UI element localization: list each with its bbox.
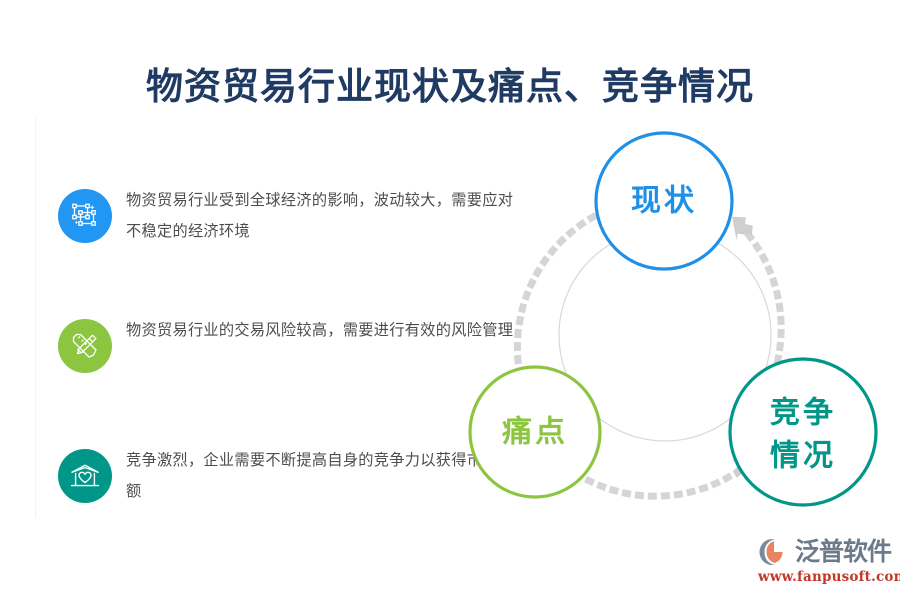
page-title: 物资贸易行业现状及痛点、竞争情况 xyxy=(0,56,900,110)
house-heart-icon xyxy=(58,449,112,503)
arrow-competition-to-status xyxy=(729,211,781,385)
slide-canvas: 物资贸易行业现状及痛点、竞争情况 xyxy=(0,0,900,600)
left-edge-rule xyxy=(35,118,36,518)
fanpu-logo-mark xyxy=(758,537,792,567)
cycle-node-painpoints: 痛点 xyxy=(470,367,600,497)
pencil-ruler-icon xyxy=(58,319,112,373)
cycle-diagram: 现状 痛点 竞争 情况 xyxy=(455,120,900,540)
logo-wordmark: 泛普软件 xyxy=(795,537,891,567)
network-nodes-icon xyxy=(58,189,112,243)
cycle-node-competition-label-line2: 情况 xyxy=(770,439,836,474)
cycle-node-status-label: 现状 xyxy=(631,184,697,219)
brand-logo: 泛普软件 www.fanpusoft.com xyxy=(758,536,894,588)
cycle-node-competition: 竞争 情况 xyxy=(730,359,876,505)
cycle-node-status: 现状 xyxy=(596,133,732,269)
cycle-node-painpoints-label: 痛点 xyxy=(502,415,568,450)
cycle-node-competition-label-line1: 竞争 xyxy=(770,396,836,431)
logo-url: www.fanpusoft.com xyxy=(758,569,894,585)
